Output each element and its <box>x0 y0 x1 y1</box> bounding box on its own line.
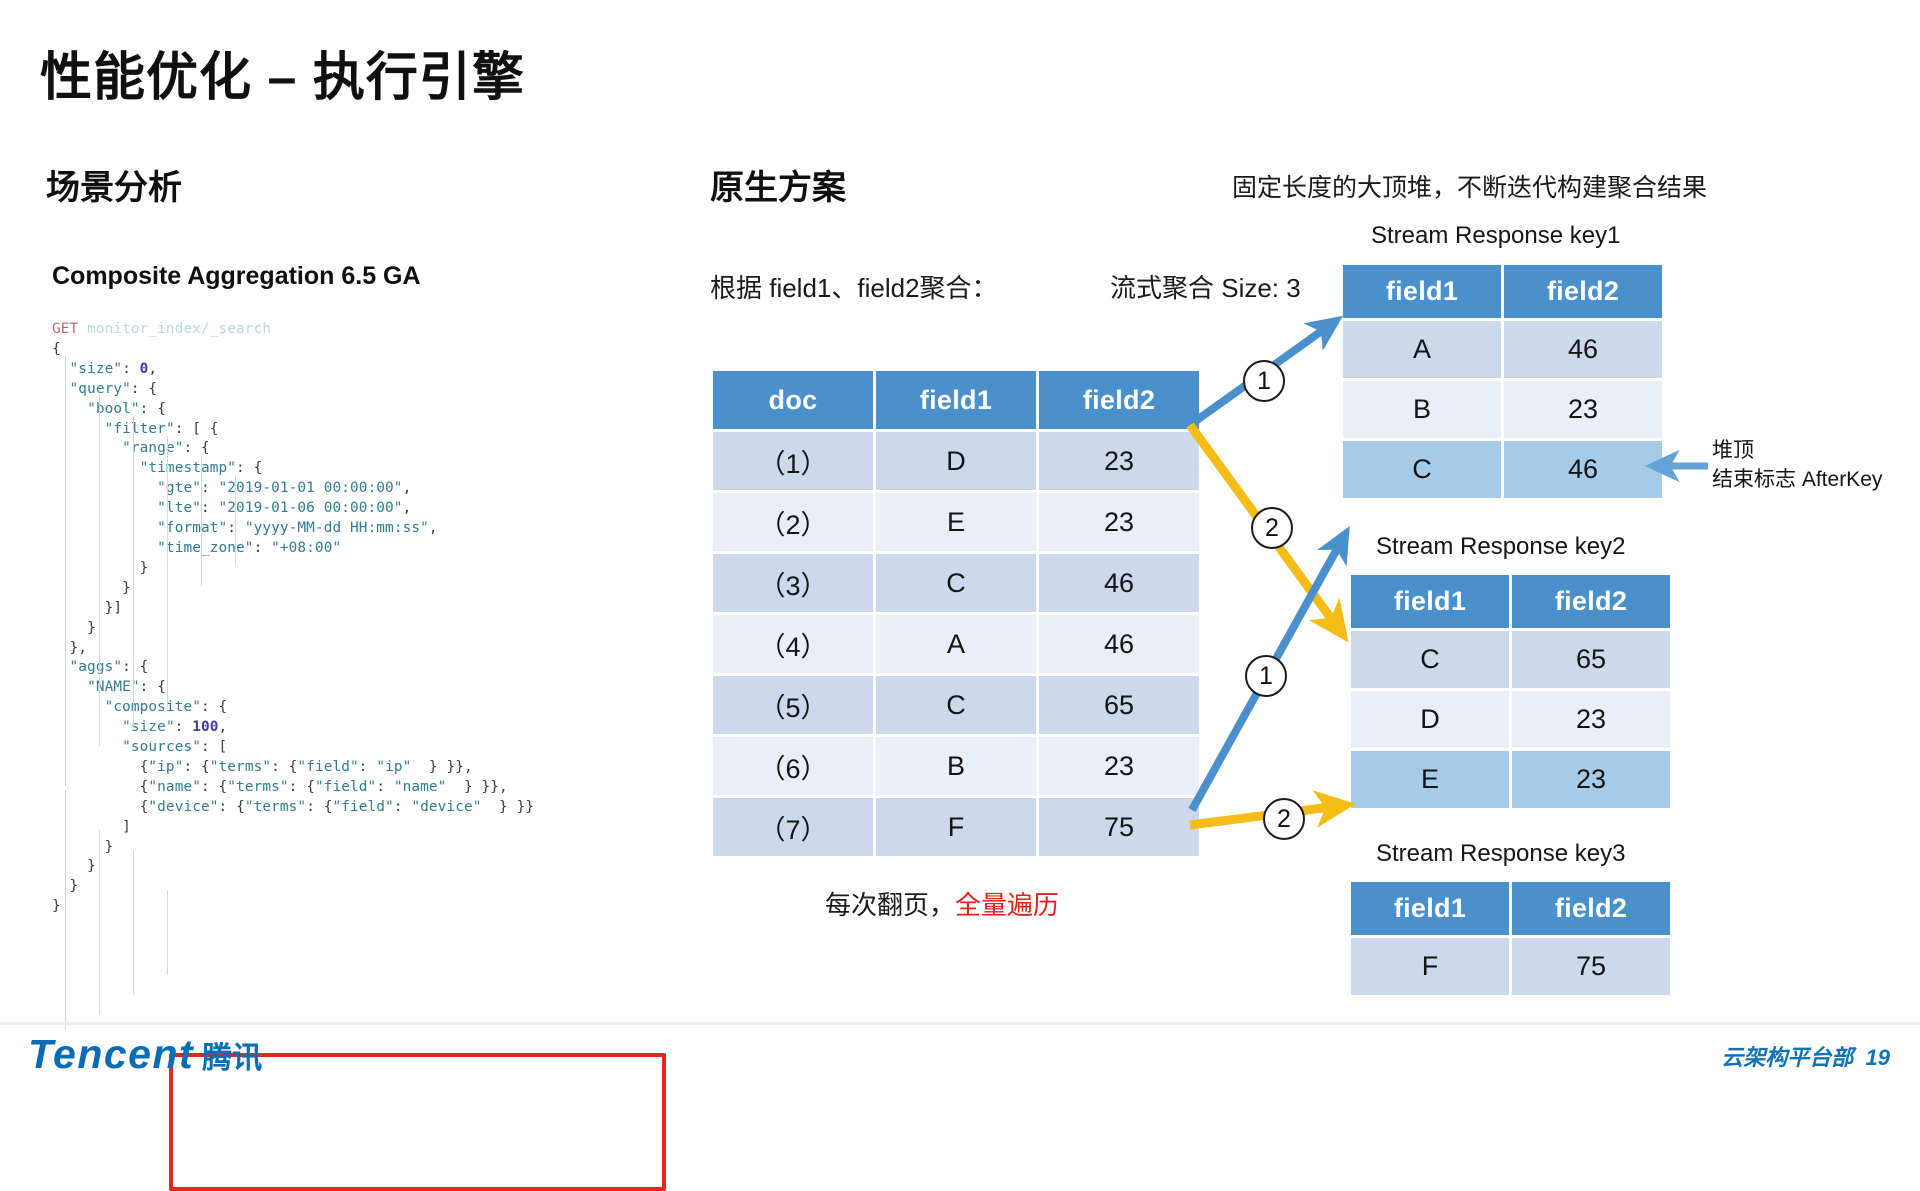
stream-table-cell: 23 <box>1512 751 1670 808</box>
table-row: E23 <box>1351 751 1670 808</box>
doc-table-cell: 23 <box>1039 737 1199 795</box>
code-block: GET monitor_index/_search { "size": 0, "… <box>52 320 572 970</box>
stream-table-cell: C <box>1351 631 1509 688</box>
doc-table-header-field2: field2 <box>1039 371 1199 429</box>
step-marker-3: 1 <box>1245 655 1287 697</box>
doc-table-cell: （6） <box>713 737 873 795</box>
doc-table-cell: 46 <box>1039 554 1199 612</box>
doc-table-cell: 65 <box>1039 676 1199 734</box>
doc-table-header-doc: doc <box>713 371 873 429</box>
doc-table: docfield1field2 （1）D23（2）E23（3）C46（4）A46… <box>710 368 1202 859</box>
step-marker-4: 2 <box>1263 798 1305 840</box>
section-heading-native-solution: 原生方案 <box>710 160 846 209</box>
stream-table-body-3: F75 <box>1351 938 1670 995</box>
code-body: { "size": 0, "query": { "bool": { "filte… <box>52 341 534 914</box>
table-row: （5）C65 <box>713 676 1199 734</box>
stream-table-header-field1: field1 <box>1351 882 1509 935</box>
stream-table-cell: B <box>1343 381 1501 438</box>
doc-table-cell: 46 <box>1039 615 1199 673</box>
side-note-line-2: 结束标志 AfterKey <box>1712 465 1882 494</box>
code-http-verb: GET <box>52 321 78 337</box>
caption-full-scan: 每次翻页，全量遍历 <box>825 885 1059 922</box>
doc-table-cell: C <box>876 554 1036 612</box>
table-row: （7）F75 <box>713 798 1199 856</box>
footer-dept: 云架构平台部 <box>1721 1045 1853 1070</box>
side-note-heap-top: 堆顶 结束标志 AfterKey <box>1712 436 1882 494</box>
doc-table-cell: （1） <box>713 432 873 490</box>
doc-table-cell: E <box>876 493 1036 551</box>
doc-table-cell: （3） <box>713 554 873 612</box>
stream-table-header-row-1: field1field2 <box>1343 265 1662 318</box>
stream-table-cell: E <box>1351 751 1509 808</box>
section-heading-scenario: 场景分析 <box>46 160 182 209</box>
table-row: F75 <box>1351 938 1670 995</box>
table-row: （6）B23 <box>713 737 1199 795</box>
stream-table-cell: D <box>1351 691 1509 748</box>
stream-table-header-field1: field1 <box>1351 575 1509 628</box>
table-row: （1）D23 <box>713 432 1199 490</box>
stream-table-cell: 65 <box>1512 631 1670 688</box>
table-row: A46 <box>1343 321 1662 378</box>
stream-table-head-1: field1field2 <box>1343 265 1662 318</box>
stream-table-header-field1: field1 <box>1343 265 1501 318</box>
stream-table-title-3: Stream Response key3 <box>1376 840 1625 868</box>
table-row: （3）C46 <box>713 554 1199 612</box>
table-row: B23 <box>1343 381 1662 438</box>
stream-table-cell: 23 <box>1504 381 1662 438</box>
stream-table-title-2: Stream Response key2 <box>1376 533 1625 561</box>
stream-table-cell: 23 <box>1512 691 1670 748</box>
stream-table-header-row-3: field1field2 <box>1351 882 1670 935</box>
stream-table-header-row-2: field1field2 <box>1351 575 1670 628</box>
footer-page-number: 19 <box>1866 1045 1890 1070</box>
caption-highlight-text: 全量遍历 <box>955 890 1059 920</box>
doc-table-cell: D <box>876 432 1036 490</box>
side-note-line-1: 堆顶 <box>1712 436 1882 465</box>
doc-table-cell: A <box>876 615 1036 673</box>
label-stream-size: 流式聚合 Size: 3 <box>1110 268 1301 305</box>
page-title: 性能优化 – 执行引擎 <box>40 35 525 110</box>
stream-table-head-2: field1field2 <box>1351 575 1670 628</box>
doc-table-cell: B <box>876 737 1036 795</box>
label-heap-note: 固定长度的大顶堆，不断迭代构建聚合结果 <box>1232 168 1707 204</box>
doc-table-cell: C <box>876 676 1036 734</box>
step-marker-1: 1 <box>1243 360 1285 402</box>
doc-table-head: docfield1field2 <box>713 371 1199 429</box>
stream-table-cell: 46 <box>1504 441 1662 498</box>
step-marker-2: 2 <box>1251 507 1293 549</box>
stream-table-body-1: A46B23C46 <box>1343 321 1662 498</box>
stream-table-cell: F <box>1351 938 1509 995</box>
label-aggregate-by: 根据 field1、field2聚合： <box>710 268 998 305</box>
stream-table-title-1: Stream Response key1 <box>1371 222 1620 250</box>
stream-table-key2: field1field2 C65D23E23 <box>1348 572 1673 811</box>
doc-table-header-field1: field1 <box>876 371 1036 429</box>
doc-table-cell: （4） <box>713 615 873 673</box>
tencent-logo: Tencent腾讯 <box>28 1031 262 1078</box>
code-text: GET monitor_index/_search { "size": 0, "… <box>52 320 572 917</box>
stream-table-header-field2: field2 <box>1512 575 1670 628</box>
code-path: monitor_index/_search <box>87 321 271 337</box>
stream-table-cell: A <box>1343 321 1501 378</box>
caption-plain-text: 每次翻页， <box>825 890 955 920</box>
stream-table-head-3: field1field2 <box>1351 882 1670 935</box>
stream-table-header-field2: field2 <box>1504 265 1662 318</box>
table-row: D23 <box>1351 691 1670 748</box>
stream-table-cell: 75 <box>1512 938 1670 995</box>
stream-table-header-field2: field2 <box>1512 882 1670 935</box>
table-row: C65 <box>1351 631 1670 688</box>
doc-table-cell: 23 <box>1039 432 1199 490</box>
doc-table-header-row: docfield1field2 <box>713 371 1199 429</box>
stream-table-key1: field1field2 A46B23C46 <box>1340 262 1665 501</box>
brand-cn: 腾讯 <box>202 1042 262 1075</box>
doc-table-cell: （5） <box>713 676 873 734</box>
footer-divider <box>0 1022 1920 1025</box>
stream-table-cell: C <box>1343 441 1501 498</box>
table-row: （2）E23 <box>713 493 1199 551</box>
subtitle-composite-aggregation: Composite Aggregation 6.5 GA <box>52 262 421 291</box>
table-row: （4）A46 <box>713 615 1199 673</box>
stream-table-key3: field1field2 F75 <box>1348 879 1673 998</box>
doc-table-cell: （7） <box>713 798 873 856</box>
footer-department-and-page: 云架构平台部 19 <box>1721 1040 1890 1072</box>
doc-table-cell: F <box>876 798 1036 856</box>
doc-table-cell: （2） <box>713 493 873 551</box>
doc-table-cell: 23 <box>1039 493 1199 551</box>
slide-canvas: 性能优化 – 执行引擎 场景分析 原生方案 Composite Aggregat… <box>0 0 1920 1080</box>
brand-en: Tencent <box>28 1031 194 1077</box>
stream-table-cell: 46 <box>1504 321 1662 378</box>
doc-table-body: （1）D23（2）E23（3）C46（4）A46（5）C65（6）B23（7）F… <box>713 432 1199 856</box>
doc-table-cell: 75 <box>1039 798 1199 856</box>
table-row: C46 <box>1343 441 1662 498</box>
stream-table-body-2: C65D23E23 <box>1351 631 1670 808</box>
